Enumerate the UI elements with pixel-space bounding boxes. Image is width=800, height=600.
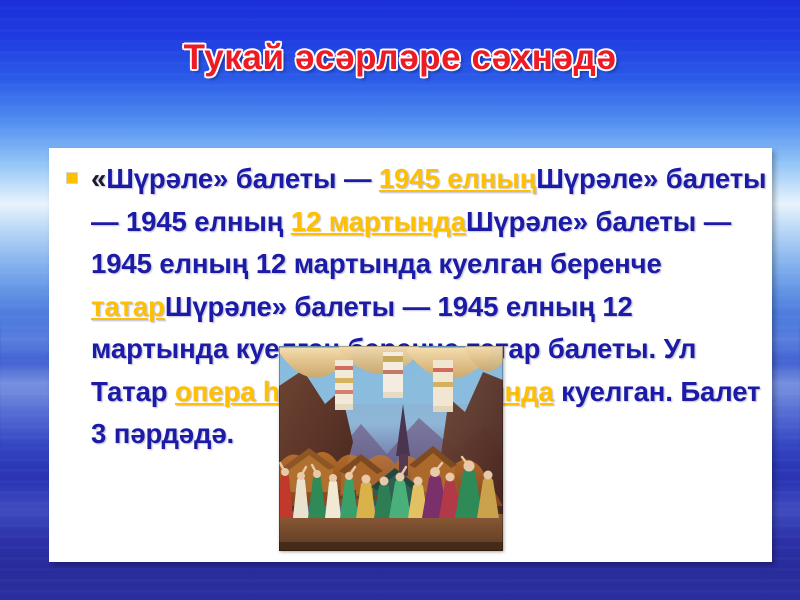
text-run: « xyxy=(91,163,106,194)
hyperlink-run[interactable]: 12 мартында xyxy=(291,206,466,237)
page-title: Тукай әсәрләре сәхнәдә xyxy=(0,38,800,78)
square-bullet-icon xyxy=(67,173,77,183)
shurale-ballet-stage-photo xyxy=(279,346,503,551)
text-run: Шүрәле» балеты — xyxy=(106,163,379,194)
hyperlink-run[interactable]: 1945 елның xyxy=(379,163,536,194)
hyperlink-run[interactable]: татар xyxy=(91,291,165,322)
presentation-slide: Тукай әсәрләре сәхнәдә «Шүрәле» балеты —… xyxy=(0,0,800,600)
